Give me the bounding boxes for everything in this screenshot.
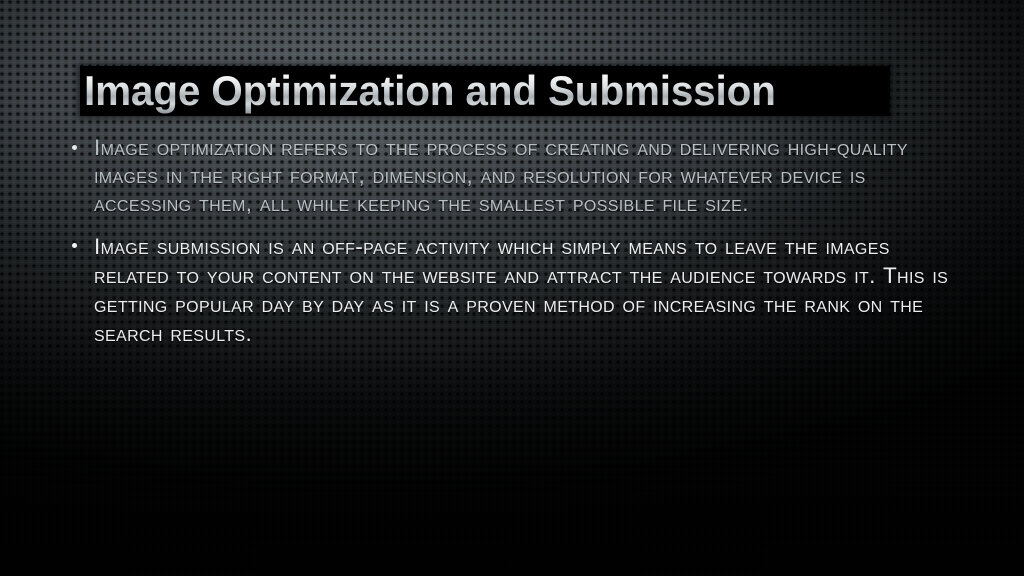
bullet-text: Image submission is an off-page activity… [94,232,960,348]
bullet-marker-icon [72,243,77,248]
slide-canvas: Image Optimization and Submission Image … [0,0,1024,576]
bullet-text: Image optimization refers to the process… [94,134,960,218]
slide-body: Image optimization refers to the process… [64,134,960,362]
list-item: Image submission is an off-page activity… [64,232,960,348]
slide-title-band: Image Optimization and Submission [80,66,890,116]
list-item: Image optimization refers to the process… [64,134,960,218]
page-title: Image Optimization and Submission [84,68,776,114]
bullet-marker-icon [72,145,77,150]
